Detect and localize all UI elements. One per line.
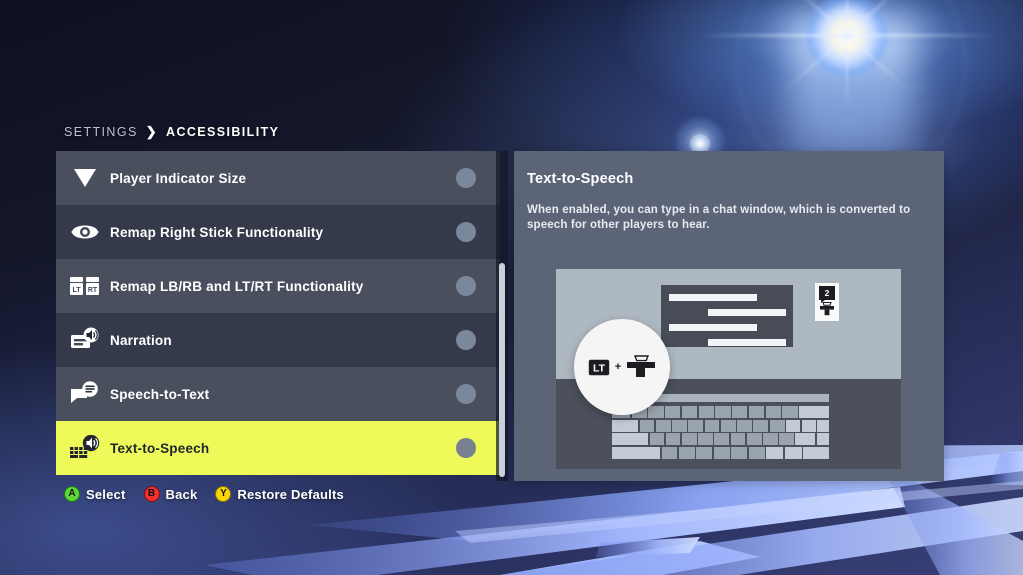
list-item-speech-to-text[interactable]: Speech-to-Text [56, 367, 500, 421]
list-scrollbar-thumb[interactable] [499, 263, 505, 477]
list-item-indicator[interactable] [456, 330, 476, 350]
text-to-speech-icon [70, 433, 100, 463]
speech-to-text-icon [70, 379, 100, 409]
list-item-text-to-speech[interactable]: Text-to-Speech [56, 421, 500, 475]
hint-label: Restore Defaults [237, 487, 344, 502]
button-a-icon: A [64, 486, 80, 502]
svg-text:LT: LT [72, 287, 81, 294]
chat-line [708, 309, 786, 316]
list-item-player-indicator-size[interactable]: Player Indicator Size [56, 151, 500, 205]
svg-text:RT: RT [88, 287, 98, 294]
list-item-label: Text-to-Speech [110, 441, 209, 456]
breadcrumb-parent[interactable]: SETTINGS [64, 125, 138, 139]
illustration: 2 [556, 269, 901, 469]
right-stick-icon [70, 217, 100, 247]
trigger-icon [819, 302, 835, 316]
notification-badge: 2 [819, 286, 835, 300]
list-item-narration[interactable]: Narration [56, 313, 500, 367]
list-item-label: Remap Right Stick Functionality [110, 225, 323, 240]
hint-back[interactable]: B Back [144, 486, 198, 502]
chat-window-graphic [661, 285, 793, 347]
detail-panel: Text-to-Speech When enabled, you can typ… [514, 151, 944, 481]
chat-line [669, 294, 757, 301]
chevron-right-icon: ❯ [146, 124, 158, 140]
hint-select[interactable]: A Select [64, 486, 126, 502]
list-item-indicator[interactable] [456, 168, 476, 188]
keyboard-row [612, 433, 829, 445]
list-scrollbar-track[interactable] [496, 151, 508, 481]
bumper-trigger-icon: LT RT [70, 271, 100, 301]
list-item-label: Remap LB/RB and LT/RT Functionality [110, 279, 364, 294]
triangle-down-icon [70, 163, 100, 193]
button-b-icon: B [144, 486, 160, 502]
list-item-indicator[interactable] [456, 384, 476, 404]
button-y-icon: Y [215, 486, 231, 502]
list-item-label: Player Indicator Size [110, 171, 246, 186]
list-item-remap-bumpers-triggers[interactable]: LT RT Remap LB/RB and LT/RT Functionalit… [56, 259, 500, 313]
lens-flare-ray-vertical [846, 0, 848, 110]
hint-restore-defaults[interactable]: Y Restore Defaults [215, 486, 344, 502]
breadcrumb: SETTINGS ❯ ACCESSIBILITY [64, 124, 279, 140]
detail-title: Text-to-Speech [527, 171, 633, 187]
trigger-icon [626, 355, 656, 379]
list-item-label: Speech-to-Text [110, 387, 209, 402]
button-hint-bar: A Select B Back Y Restore Defaults [64, 486, 344, 502]
list-item-indicator[interactable] [456, 438, 476, 458]
narration-speaker-icon [70, 325, 100, 355]
keyboard-row [612, 420, 829, 432]
svg-text:LT: LT [593, 362, 606, 374]
button-callout: LT + [574, 319, 670, 415]
lt-button-icon: LT [588, 359, 610, 376]
list-item-label: Narration [110, 333, 172, 348]
list-item-remap-right-stick[interactable]: Remap Right Stick Functionality [56, 205, 500, 259]
breadcrumb-current: ACCESSIBILITY [166, 125, 279, 139]
detail-description: When enabled, you can type in a chat win… [527, 203, 931, 234]
chat-line [708, 339, 786, 346]
chat-line [669, 324, 757, 331]
hint-label: Back [166, 487, 198, 502]
keyboard-graphic [612, 406, 829, 461]
settings-list[interactable]: Player Indicator Size Remap Right Stick … [56, 151, 500, 481]
list-item-indicator[interactable] [456, 222, 476, 242]
notification-card: 2 [815, 283, 839, 321]
hint-label: Select [86, 487, 126, 502]
keyboard-row [612, 447, 829, 459]
callout-plus-label: + [615, 361, 621, 373]
list-item-indicator[interactable] [456, 276, 476, 296]
